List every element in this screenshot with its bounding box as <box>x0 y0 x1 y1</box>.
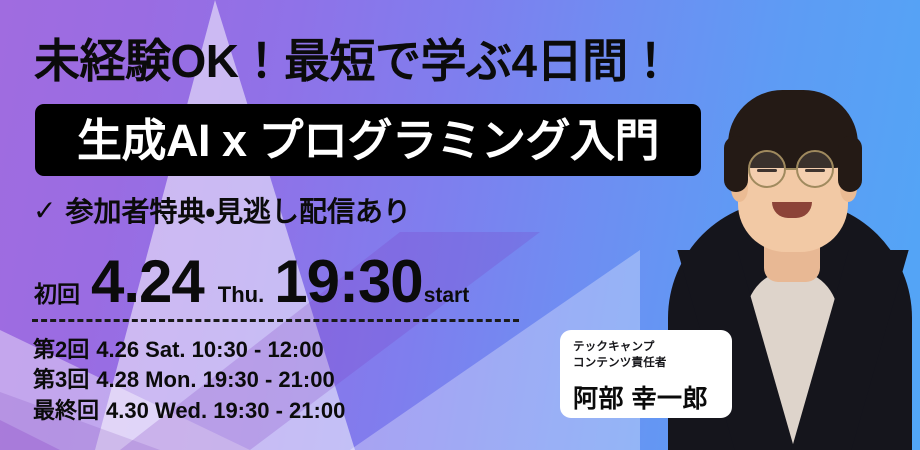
schedule-row: 最終回4.30 Wed. 19:30 - 21:00 <box>33 397 345 424</box>
banner-content: 未経験OK！最短で学ぶ4日間！ 生成AI x プログラミング入門 ✓ 参加者特典… <box>0 0 920 450</box>
perk-text: 参加者特典・見逃し配信あり <box>65 190 411 230</box>
first-session-row: 初回 4.24 Thu. 19:30 start <box>34 252 469 312</box>
instructor-name: 阿部 幸一郎 <box>573 379 732 415</box>
schedule-row: 第2回4.26 Sat. 10:30 - 12:00 <box>33 336 345 363</box>
schedule-row-no: 最終回 <box>33 398 99 423</box>
instructor-company: テックキャンプ <box>573 340 732 356</box>
seminar-banner: 未経験OK！最短で学ぶ4日間！ 生成AI x プログラミング入門 ✓ 参加者特典… <box>0 0 920 450</box>
check-icon: ✓ <box>33 197 56 225</box>
schedule-row-detail: 4.28 Mon. 19:30 - 21:00 <box>96 367 334 392</box>
schedule-row-no: 第2回 <box>33 337 89 362</box>
first-session-dow: Thu. <box>218 282 264 308</box>
first-session-label: 初回 <box>34 275 80 309</box>
headline: 未経験OK！最短で学ぶ4日間！ <box>34 36 673 87</box>
first-session-date: 4.24 <box>91 252 204 312</box>
schedule-list: 第2回4.26 Sat. 10:30 - 12:00 第3回4.28 Mon. … <box>33 336 345 424</box>
schedule-row-detail: 4.30 Wed. 19:30 - 21:00 <box>106 398 345 423</box>
title-box-text: 生成AI x プログラミング入門 <box>77 118 659 163</box>
instructor-role: コンテンツ責任者 <box>573 356 732 372</box>
first-session-time: 19:30 <box>274 252 422 312</box>
schedule-row-no: 第3回 <box>33 367 89 392</box>
perk-line: ✓ 参加者特典・見逃し配信あり <box>33 190 411 230</box>
schedule-row: 第3回4.28 Mon. 19:30 - 21:00 <box>33 366 345 393</box>
dashed-divider <box>32 319 519 322</box>
instructor-name-card: テックキャンプ コンテンツ責任者 阿部 幸一郎 <box>560 330 732 418</box>
schedule-row-detail: 4.26 Sat. 10:30 - 12:00 <box>96 337 323 362</box>
first-session-start: start <box>424 284 470 308</box>
title-box: 生成AI x プログラミング入門 <box>35 104 701 176</box>
